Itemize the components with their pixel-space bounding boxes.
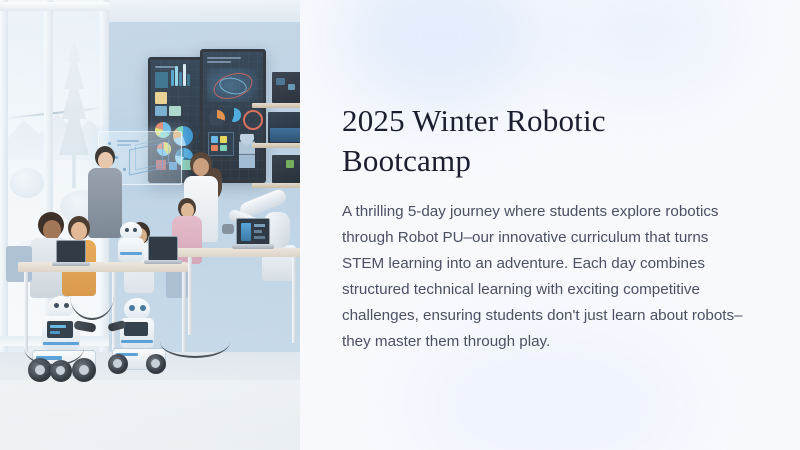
display-bar xyxy=(175,66,178,86)
display-text-line xyxy=(207,61,231,63)
circuit-chip xyxy=(288,84,295,90)
table-leg xyxy=(292,257,296,343)
laptop-text-line xyxy=(254,230,262,233)
display-swatch xyxy=(220,145,227,151)
display-text-line xyxy=(155,66,175,68)
hologram-node xyxy=(115,156,118,159)
circuit-chip xyxy=(276,78,285,85)
laptop-text-line xyxy=(254,224,265,227)
power-cable xyxy=(160,326,230,358)
hologram-wireframe xyxy=(129,142,163,175)
laptop-base xyxy=(144,260,182,264)
classroom-table xyxy=(176,248,300,257)
laptop-base xyxy=(232,244,274,249)
window-frame xyxy=(0,0,8,372)
description-paragraph: A thrilling 5-day journey where students… xyxy=(342,181,745,355)
page-title: 2025 Winter Robotic Bootcamp xyxy=(342,0,672,181)
humanoid-robot-diagram xyxy=(239,134,255,168)
display-text-line xyxy=(207,57,241,59)
display-swatch xyxy=(169,106,181,116)
slide-root: 2025 Winter Robotic Bootcamp A thrilling… xyxy=(0,0,800,450)
hologram-node xyxy=(123,168,126,171)
text-container: 2025 Winter Robotic Bootcamp A thrilling… xyxy=(300,0,800,355)
display-gauge xyxy=(227,108,241,122)
window-frame-top xyxy=(0,2,109,11)
display-bar xyxy=(171,70,174,86)
snow-bush xyxy=(10,168,44,198)
power-cable xyxy=(70,272,114,320)
laptop-screen xyxy=(56,240,86,264)
display-gauge xyxy=(209,110,225,126)
laptop-robot-diagram xyxy=(241,223,251,241)
laptop-screen xyxy=(236,218,270,246)
wall-shelf xyxy=(252,103,300,108)
laptop-text-line xyxy=(254,236,265,239)
display-swatch xyxy=(211,145,218,151)
display-bar xyxy=(187,74,190,86)
display-swatch xyxy=(155,106,167,116)
text-panel: 2025 Winter Robotic Bootcamp A thrilling… xyxy=(300,0,800,450)
circuit-chip xyxy=(286,160,294,168)
wall-shelf xyxy=(252,183,300,188)
hologram-text-line xyxy=(117,140,139,142)
table-leg xyxy=(188,257,192,335)
circuit-board xyxy=(272,72,300,103)
robot-arm-gripper xyxy=(222,224,234,234)
power-cable xyxy=(24,330,84,366)
laptop-base xyxy=(52,262,90,266)
laptop-screen xyxy=(148,236,178,262)
display-swatch xyxy=(155,92,167,104)
blue-toolbox xyxy=(270,128,300,142)
robot-screen-line xyxy=(50,325,66,328)
display-bar xyxy=(183,64,186,86)
hologram-text-line xyxy=(117,144,131,146)
table-leg xyxy=(112,272,116,358)
floor-reflection xyxy=(0,380,300,450)
wall-shelf xyxy=(252,143,300,148)
classroom-photo xyxy=(0,0,300,450)
display-bar xyxy=(179,72,182,86)
display-chart-block xyxy=(155,72,168,88)
display-gauge-ring xyxy=(243,110,263,130)
display-swatch xyxy=(211,136,218,143)
hologram-node xyxy=(108,142,111,145)
display-swatch xyxy=(220,136,227,143)
